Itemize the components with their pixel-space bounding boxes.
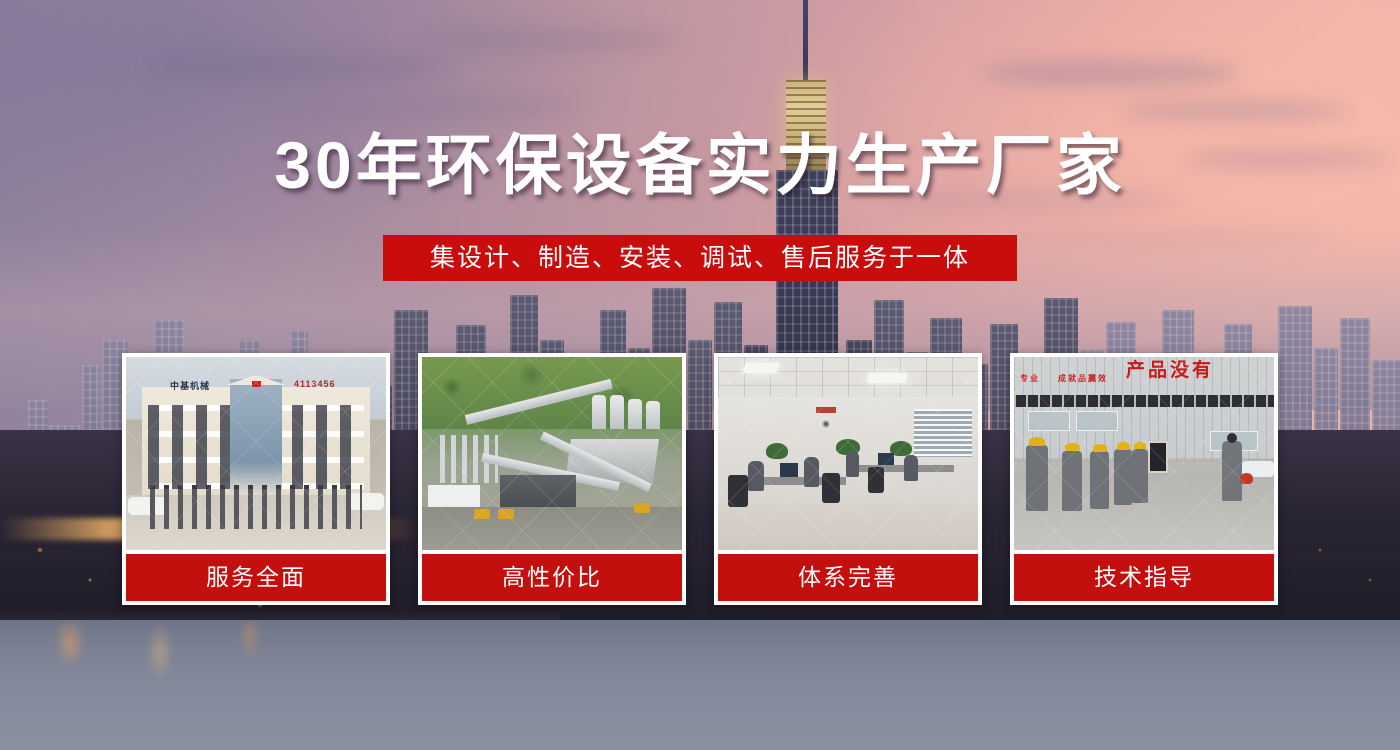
feature-card-system[interactable]: 体系完善 — [714, 353, 982, 605]
feature-card-service[interactable]: 中基机械 4113456 服务全面 — [122, 353, 390, 605]
factory-sign-text: 产品没有 — [1126, 361, 1214, 380]
hero-banner: 30年环保设备实力生产厂家 集设计、制造、安装、调试、售后服务于一体 中基机械 … — [0, 0, 1400, 750]
card-caption: 高性价比 — [422, 554, 682, 601]
wall-decal-icon — [810, 407, 842, 433]
feature-card-list: 中基机械 4113456 服务全面 — [122, 353, 1278, 605]
card-caption: 体系完善 — [718, 554, 978, 601]
card-photo-plant — [422, 357, 682, 550]
feature-card-guidance[interactable]: 专业 成就品质 高效 产品没有 — [1010, 353, 1278, 605]
red-helmet-icon — [1240, 473, 1253, 484]
page-title: 30年环保设备实力生产厂家 — [0, 132, 1400, 198]
building-phone-text: 4113456 — [294, 379, 336, 389]
feature-card-value[interactable]: 高性价比 — [418, 353, 686, 605]
factory-slogan-text: 专业 — [1020, 373, 1040, 385]
card-caption: 服务全面 — [126, 554, 386, 601]
water-reflection — [0, 622, 420, 702]
card-photo-office — [718, 357, 978, 550]
card-photo-workers: 专业 成就品质 高效 产品没有 — [1014, 357, 1274, 550]
card-caption: 技术指导 — [1014, 554, 1274, 601]
subtitle-banner: 集设计、制造、安装、调试、售后服务于一体 — [383, 235, 1017, 281]
building-sign-text: 中基机械 — [170, 379, 210, 392]
factory-slogan-text: 高效 — [1088, 373, 1108, 385]
subtitle-text: 集设计、制造、安装、调试、售后服务于一体 — [430, 246, 970, 271]
card-photo-building: 中基机械 4113456 — [126, 357, 386, 550]
